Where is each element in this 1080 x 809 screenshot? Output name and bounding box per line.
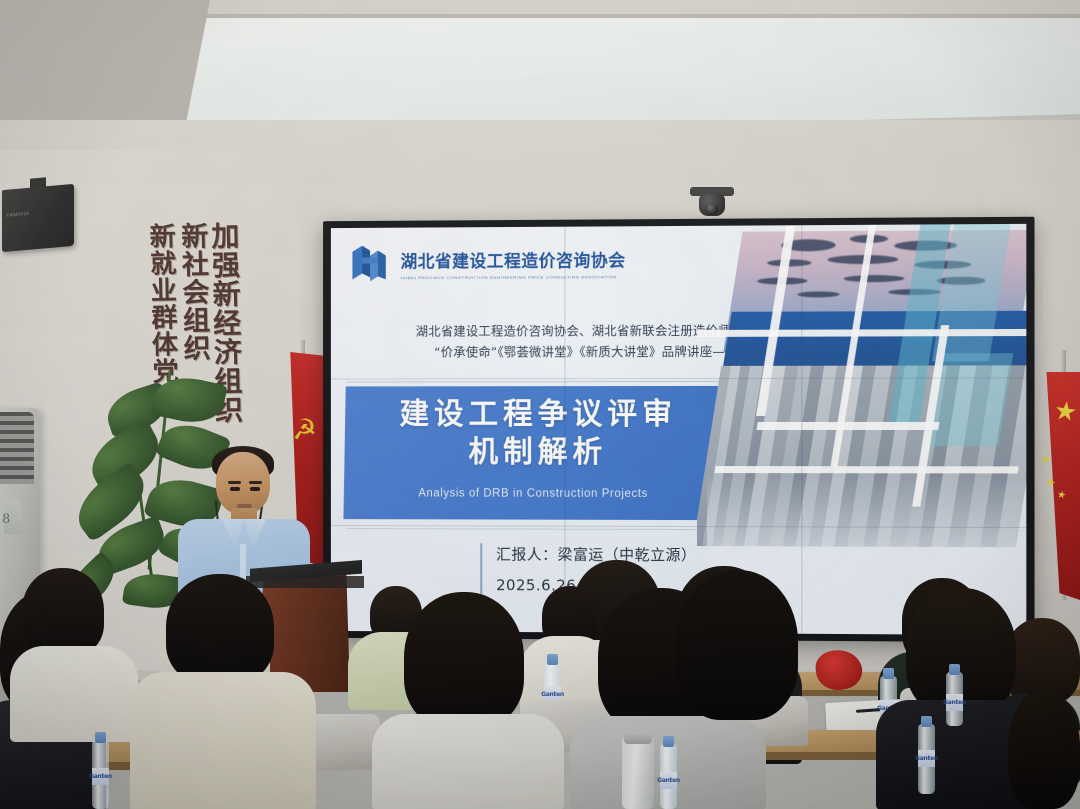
- video-wall-display[interactable]: 湖北省建设工程造价咨询协会 HUBEI PROVINCE CONSTRUCTIO…: [323, 217, 1034, 643]
- slide-presenter-name: 汇报人：梁富运（中乾立源）: [496, 543, 696, 565]
- conference-room-photo: YAMAHA 加强新经济组织 新社会组织 新就业群体党的 8 ☭ ★ ★ ★ ★: [0, 0, 1080, 809]
- screen-surface: 湖北省建设工程造价咨询协会 HUBEI PROVINCE CONSTRUCTIO…: [331, 224, 1026, 635]
- presentation-slide: 湖北省建设工程造价咨询协会 HUBEI PROVINCE CONSTRUCTIO…: [331, 224, 1026, 635]
- water-bottle-label-6: Ganten: [918, 750, 935, 767]
- video-wall-seam-v1: [564, 227, 565, 633]
- presenter-eyebrow-left: [228, 481, 241, 484]
- video-wall-seam-v2: [801, 225, 802, 634]
- flag-star-small-icon-3: ★: [1056, 489, 1067, 501]
- slide-title-english: Analysis of DRB in Construction Projects: [370, 487, 697, 500]
- association-logo-text-en: HUBEI PROVINCE CONSTRUCTION ENGINEERING …: [401, 274, 626, 280]
- camera-lens-icon: [705, 203, 718, 215]
- water-bottle-label-5: Ganten: [660, 772, 677, 789]
- air-conditioner-logo: 8: [2, 512, 10, 527]
- association-logo-mark-icon: [350, 244, 391, 284]
- party-emblem-icon: ☭: [291, 414, 319, 447]
- flag-star-large-icon: ★: [1052, 397, 1079, 426]
- presenter-eyebrow-right: [249, 481, 262, 484]
- thermos-tumbler[interactable]: [622, 736, 654, 809]
- air-conditioner-grille: [0, 412, 34, 484]
- association-logo-text-cn: 湖北省建设工程造价咨询协会: [401, 246, 626, 272]
- water-bottle-label-4: Ganten: [92, 768, 109, 785]
- presenter-eye-left: [230, 487, 240, 491]
- water-bottle-label-7: Ganten: [946, 694, 963, 711]
- association-logo: 湖北省建设工程造价咨询协会 HUBEI PROVINCE CONSTRUCTIO…: [350, 242, 625, 283]
- thermos-tumbler-cap: [624, 732, 652, 744]
- slide-title-line-2: 机制解析: [370, 434, 707, 472]
- slide-title: 建设工程争议评审 机制解析: [370, 396, 707, 473]
- slide-title-line-1: 建设工程争议评审: [370, 396, 707, 434]
- presenter-eye-right: [250, 487, 260, 491]
